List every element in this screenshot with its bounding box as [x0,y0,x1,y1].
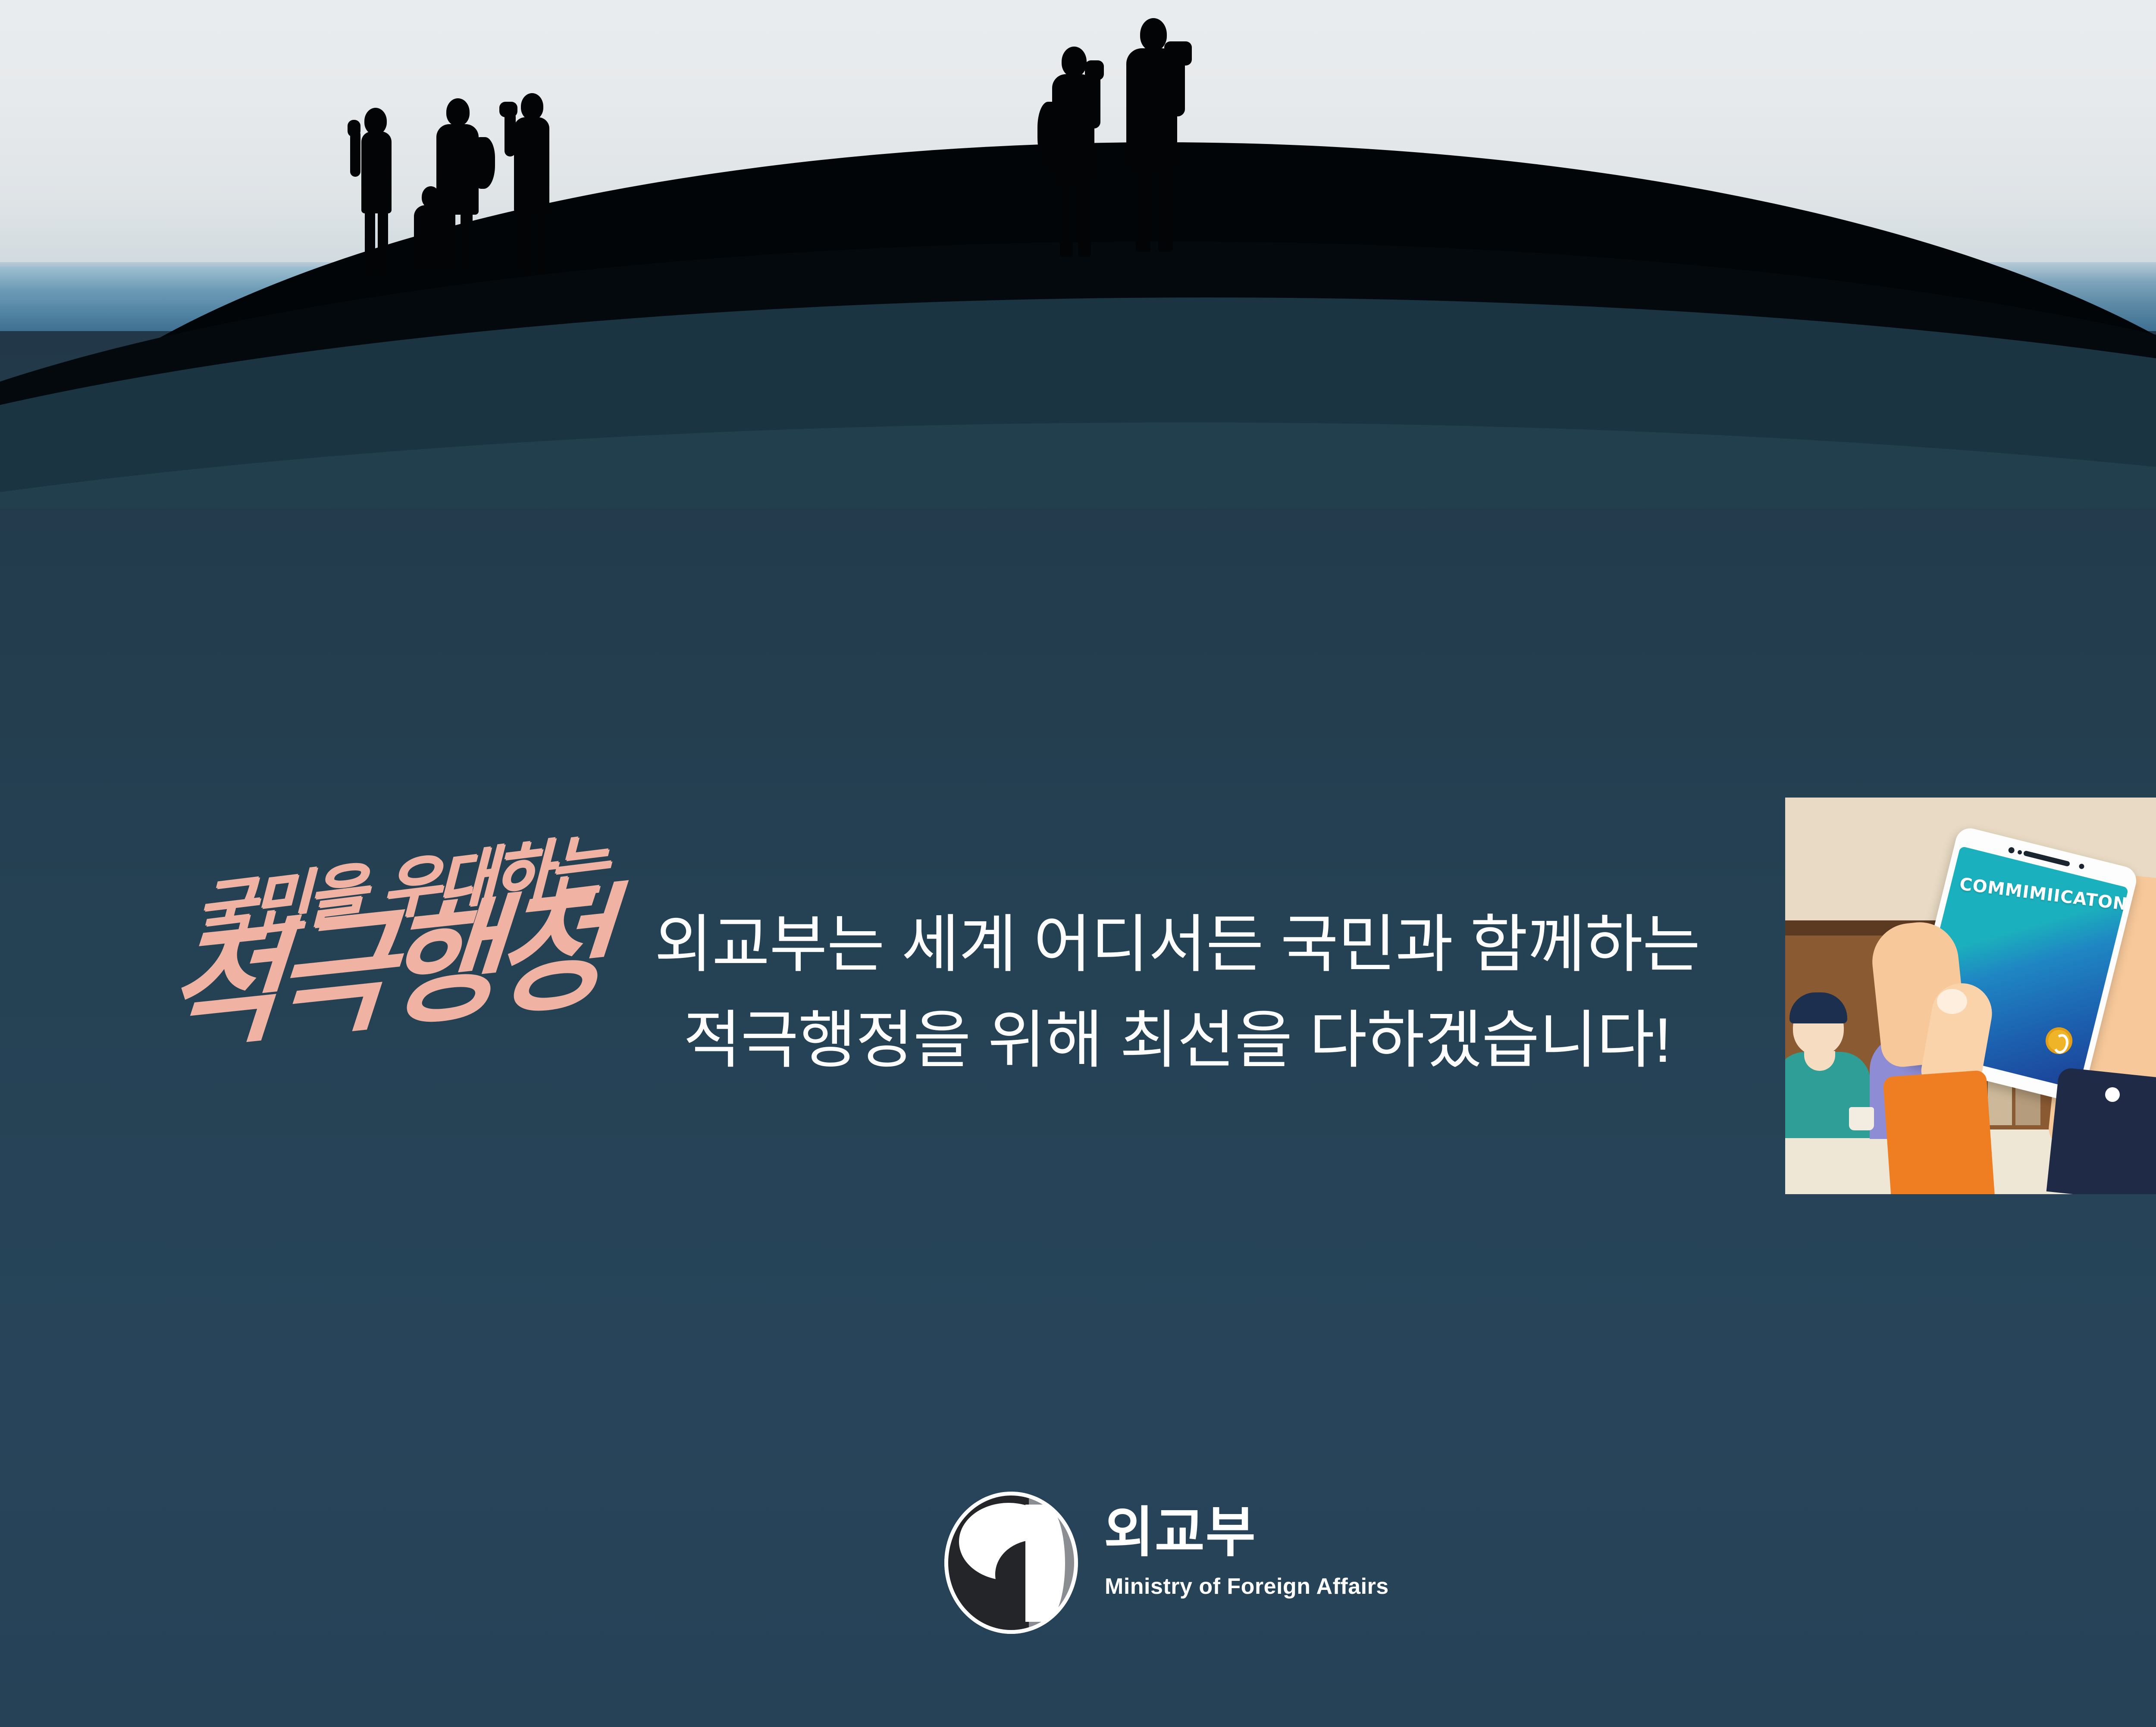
calligraphy-slogan: 국민을 우대하는 적극행정 [172,832,561,1099]
right-sleeve-cuff [2046,1067,2156,1194]
counter-cup [1849,1107,1874,1130]
thumb-nail [1937,989,1967,1014]
hero-photo [0,0,2156,509]
mofa-logo: 외교부 Ministry of Foreign Affairs [944,1487,1419,1643]
phone-camera-dot [2078,863,2085,870]
coin-icon [2043,1024,2075,1057]
left-sleeve-cuff [1883,1070,1995,1194]
ministry-name-english: Ministry of Foreign Affairs [1105,1574,1389,1599]
poster-canvas: 국민을 우대하는 적극행정 외교부는 세계 어디서든 국민과 함께하는 적극행정… [0,0,2156,1727]
phone-screen-label: COMMIMIICATON [1959,874,2124,914]
headline-line-2: 적극행정을 위해 최선을 다하겠습니다! [617,992,1738,1088]
taegeuk-emblem-icon [944,1492,1078,1634]
headline-line-1: 외교부는 세계 어디서든 국민과 함께하는 [617,897,1738,992]
ministry-name-korean: 외교부 [1104,1505,1257,1560]
phone-sensor-dot-small [2017,850,2022,855]
taegeuk-outer-rim [944,1492,1078,1634]
cuff-button [2105,1087,2120,1102]
smartphone-illustration: COMMIMIICATON [1785,798,2156,1194]
phone-sensor-dot [2008,847,2015,854]
headline-block: 외교부는 세계 어디서든 국민과 함께하는 적극행정을 위해 최선을 다하겠습니… [617,897,1738,1088]
